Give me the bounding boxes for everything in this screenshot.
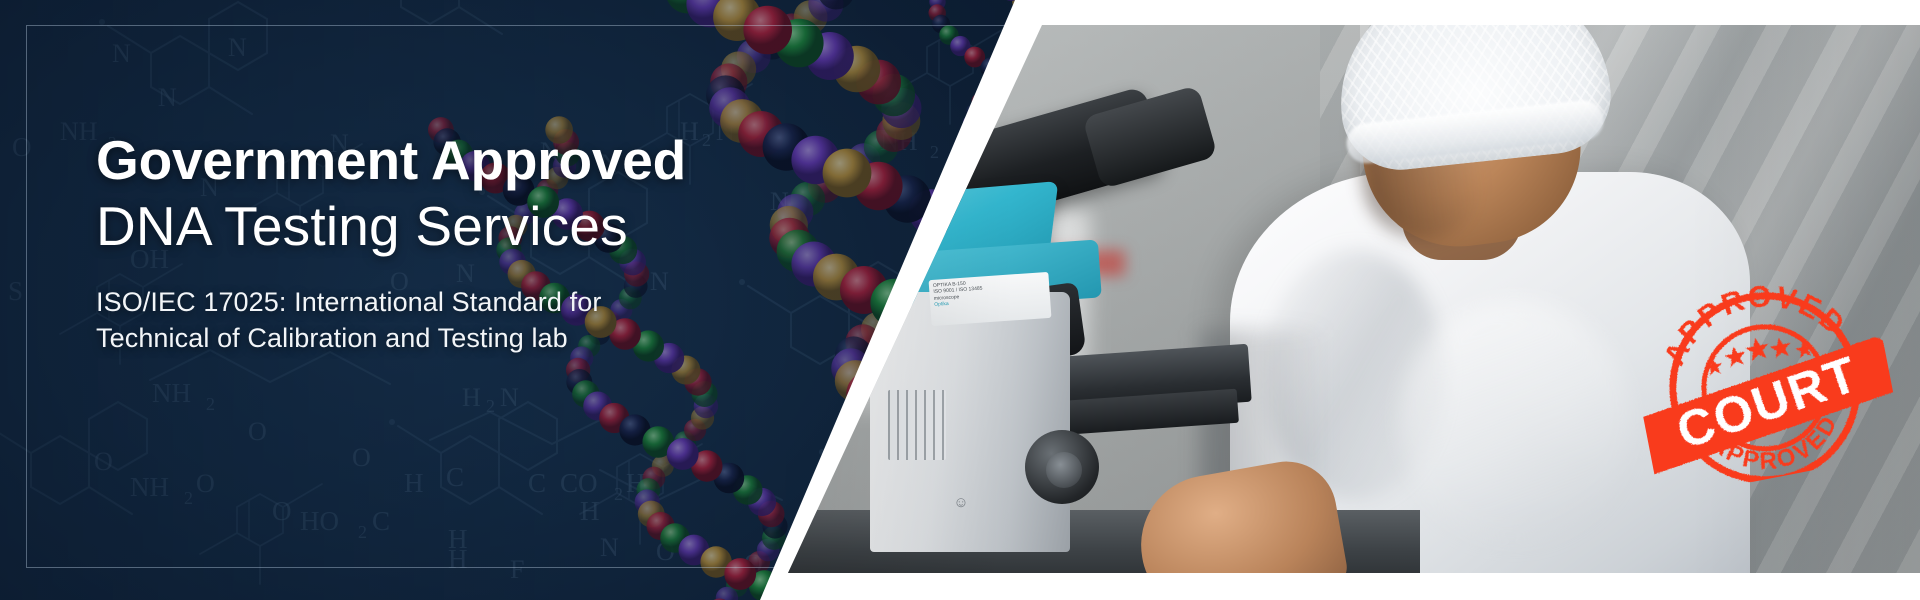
svg-text:NH: NH <box>60 117 98 146</box>
headline-line-2: DNA Testing Services <box>96 196 816 258</box>
hero-banner: O S NH 3 N N N N OH NH 2 NH 2 O O O HO 2… <box>0 0 1920 600</box>
svg-text:N: N <box>158 83 177 112</box>
svg-text:O: O <box>196 469 215 498</box>
svg-text:2: 2 <box>206 394 215 414</box>
svg-text:NH: NH <box>152 378 191 408</box>
svg-text:N: N <box>228 33 247 62</box>
banner-subtitle: ISO/IEC 17025: International Standard fo… <box>96 284 816 356</box>
svg-text:NH: NH <box>130 472 169 502</box>
banner-copy: Government Approved DNA Testing Services… <box>96 133 816 356</box>
svg-text:N: N <box>112 39 131 68</box>
svg-text:2: 2 <box>184 488 193 508</box>
subtitle-line-1: ISO/IEC 17025: International Standard fo… <box>96 284 816 320</box>
svg-text:O: O <box>12 132 32 162</box>
svg-text:O: O <box>94 447 113 476</box>
headline-line-1: Government Approved <box>96 133 816 188</box>
svg-text:S: S <box>8 276 23 306</box>
subtitle-line-2: Technical of Calibration and Testing lab <box>96 320 816 356</box>
